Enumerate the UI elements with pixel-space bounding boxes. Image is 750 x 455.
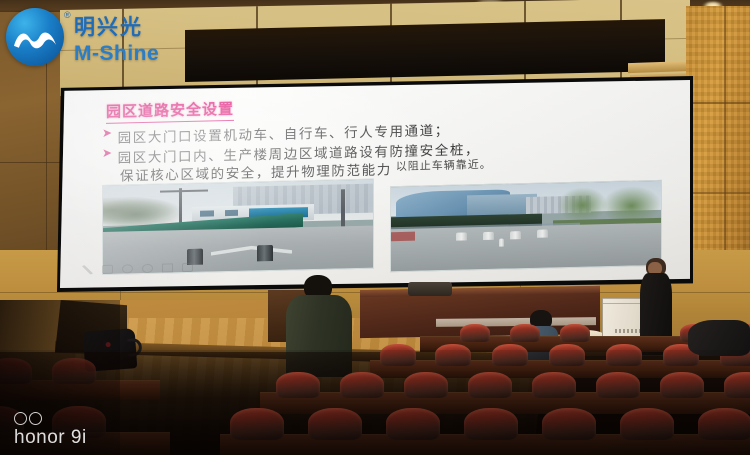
- circle-icon[interactable]: [122, 264, 133, 273]
- cursor-icon[interactable]: [162, 263, 173, 272]
- circle-icon[interactable]: [142, 264, 153, 273]
- screenshot-root: 园区道路安全设置 ➤ 园区大门口设置机动车、自行车、行人专用通道； ➤ 园区大门…: [0, 0, 750, 455]
- seat: [468, 372, 512, 398]
- note-icon[interactable]: [102, 265, 113, 274]
- seat: [660, 372, 704, 398]
- seat: [276, 372, 320, 398]
- seat: [698, 408, 750, 440]
- dual-circle-camera-icon: [14, 412, 87, 425]
- seat: [724, 372, 750, 398]
- brand-overlay: ® 明兴光 M-Shine: [6, 8, 159, 68]
- seat: [404, 372, 448, 398]
- bollard: [537, 230, 548, 238]
- projection-screen[interactable]: 园区道路安全设置 ➤ 园区大门口设置机动车、自行车、行人专用通道； ➤ 园区大门…: [60, 80, 690, 288]
- pen-icon[interactable]: [82, 265, 93, 274]
- seat: [510, 324, 540, 342]
- bollard: [499, 238, 504, 247]
- bullet-arrow-icon: ➤: [102, 147, 114, 160]
- seat: [380, 344, 416, 366]
- slide-photo-factory-road: [390, 180, 662, 272]
- seat: [0, 358, 32, 384]
- bollard: [456, 232, 467, 240]
- seat: [435, 344, 471, 366]
- seat: [460, 324, 490, 342]
- brand-name-en: M-Shine: [74, 43, 159, 64]
- seat: [308, 408, 362, 440]
- registered-mark: ®: [64, 10, 71, 20]
- honor-watermark-label: honor 9i: [14, 427, 87, 449]
- screen-icon[interactable]: [182, 263, 193, 272]
- seat: [386, 408, 440, 440]
- seat: [464, 408, 518, 440]
- seat: [230, 408, 284, 440]
- slide-photo-gate-road: [102, 179, 374, 275]
- seat: [549, 344, 585, 366]
- slide-title: 园区道路安全设置: [106, 98, 234, 122]
- brand-name-cn: 明兴光: [74, 17, 159, 38]
- m-shine-wave-circle-logo: ®: [6, 8, 66, 68]
- dark-jacket-on-seat: [688, 320, 750, 356]
- screen-soffit: [185, 19, 665, 82]
- seat: [620, 408, 674, 440]
- seat: [542, 408, 596, 440]
- stage-chair-back: [408, 282, 452, 296]
- seat: [532, 372, 576, 398]
- slide-bullet-2-wrap-tail: 以阻止车辆靠近。: [396, 156, 492, 174]
- seat: [596, 372, 640, 398]
- wave-m-icon: [13, 28, 58, 50]
- seat: [606, 344, 642, 366]
- bollard: [257, 245, 273, 261]
- bullet-arrow-icon: ➤: [102, 127, 114, 140]
- seat: [52, 358, 96, 384]
- seat: [560, 324, 590, 342]
- bollard: [510, 231, 521, 239]
- bollard: [483, 232, 494, 240]
- seat: [340, 372, 384, 398]
- honor-watermark: honor 9i: [14, 412, 87, 449]
- seat: [492, 344, 528, 366]
